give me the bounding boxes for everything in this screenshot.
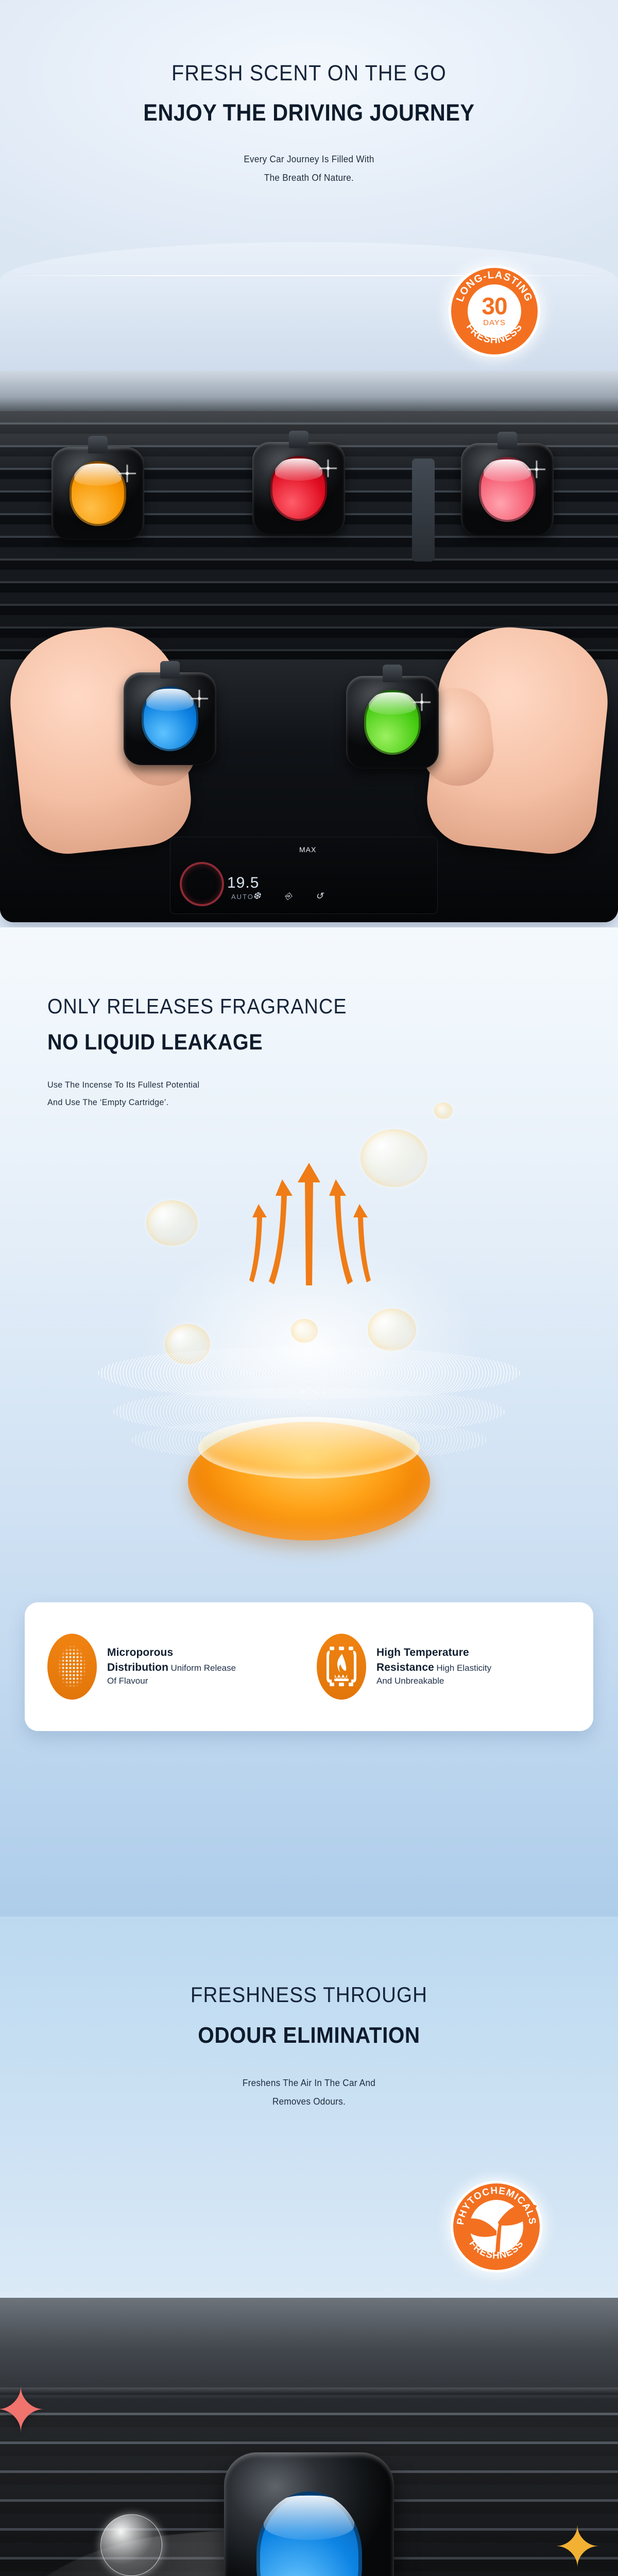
hvac-max-label: MAX	[299, 845, 316, 854]
hvac-temperature: 19.5	[227, 874, 259, 892]
hvac-display: MAX 19.5 AUTO ❆ ⎆ ↺	[170, 837, 438, 914]
hero-subtitle-line1: Every Car Journey Is Filled With	[15, 150, 603, 168]
sparkle-icon	[413, 693, 431, 711]
green-capsule-unit	[346, 676, 439, 769]
section-no-liquid-leakage: ONLY RELEASES FRAGRANCE NO LIQUID LEAKAG…	[0, 927, 618, 1917]
phytochemicals-freshness-badge: PHYTOCHEMICALS FRESHNESS	[453, 2183, 540, 2270]
leakage-subtitle-line2: And Use The ‘Empty Cartridge’.	[47, 1094, 590, 1112]
seat-icon: ⎆	[284, 891, 291, 902]
hero-heading-bold: ENJOY THE DRIVING JOURNEY	[25, 99, 593, 126]
feature-desc-line2: Of Flavour	[107, 1676, 148, 1686]
feature-desc-line1: Uniform Release	[170, 1663, 236, 1673]
bubble-decor	[360, 1129, 427, 1187]
capsule-lens	[142, 686, 198, 751]
odour-heading-light: FRESHNESS THROUGH	[25, 1982, 593, 2007]
recirculate-icon: ↺	[316, 891, 323, 902]
cabin-product-photo: ✦ ✦ ✦ ⒶOFF ⚠OFF △ P◀ ≋ ↧	[0, 2298, 618, 2576]
flame-heat-icon	[317, 1634, 366, 1700]
capsule-lens	[270, 456, 327, 521]
sparkle-icon	[319, 460, 337, 477]
odour-heading-bold: ODOUR ELIMINATION	[25, 2023, 593, 2049]
feature-text: High Temperature Resistance High Elastic…	[376, 1646, 491, 1687]
vent-clip-icon	[160, 661, 180, 679]
blue-capsule-unit	[124, 672, 216, 765]
capsule-lens	[364, 690, 421, 755]
shell-bubble-decor	[100, 2514, 162, 2576]
capsule-lens	[479, 457, 536, 522]
fragrance-rising-arrows	[227, 1162, 391, 1296]
vent-clip-icon	[88, 436, 108, 453]
dot-matrix-icon	[47, 1634, 97, 1700]
starfish-yellow-icon: ✦	[554, 2514, 601, 2576]
leakage-subtitle-line1: Use The Incense To Its Fullest Potential	[47, 1076, 590, 1094]
red-capsule-unit	[252, 442, 345, 535]
dash-leather-top	[0, 2298, 618, 2406]
sparkle-icon	[191, 690, 208, 707]
bubble-decor	[291, 1319, 318, 1343]
odour-subtitle-line1: Freshens The Air In The Car And	[15, 2074, 603, 2092]
vent-clip-icon	[497, 432, 517, 449]
pink-capsule-unit	[461, 443, 554, 536]
badge-unit: DAYS	[483, 318, 506, 327]
feature-title-line2: Distribution	[107, 1662, 168, 1673]
feature-desc-line1: High Elasticity	[436, 1663, 491, 1673]
capsule-lens	[256, 2492, 362, 2576]
product-landing-page: FRESH SCENT ON THE GO ENJOY THE DRIVING …	[0, 0, 618, 2576]
flame-heat-glyph	[327, 1645, 356, 1689]
hero-product-photo: MAX 19.5 AUTO ❆ ⎆ ↺	[0, 371, 618, 922]
starfish-red-icon: ✦	[0, 2375, 47, 2447]
section-hero: FRESH SCENT ON THE GO ENJOY THE DRIVING …	[0, 0, 618, 927]
feature-title-line1: Microporous	[107, 1647, 173, 1658]
badge-inner-disc: 30 DAYS	[468, 284, 521, 338]
bubble-decor	[146, 1200, 198, 1246]
bubble-decor	[368, 1309, 416, 1351]
hvac-icon-row: ❆ ⎆ ↺	[253, 891, 323, 902]
orange-capsule-unit	[51, 447, 144, 540]
feature-text: Microporous Distribution Uniform Release…	[107, 1646, 236, 1687]
hvac-mode: AUTO	[231, 893, 254, 901]
odour-subtitle-line2: Removes Odours.	[15, 2092, 603, 2111]
feature-title-line2: Resistance	[376, 1662, 434, 1673]
dot-matrix-glyph	[58, 1645, 87, 1689]
fan-icon: ❆	[253, 891, 261, 902]
feature-desc-line2: And Unbreakable	[376, 1676, 444, 1686]
oil-pod-membrane	[198, 1417, 420, 1479]
long-lasting-30-days-badge: 30 DAYS LONG-LASTING FRESHNESS	[451, 268, 538, 354]
hero-heading-light: FRESH SCENT ON THE GO	[25, 61, 593, 86]
bubble-decor	[434, 1103, 453, 1119]
sprout-plant-icon	[453, 2183, 540, 2270]
hero-subtitle-line2: The Breath Of Nature.	[15, 168, 603, 187]
feature-card: Microporous Distribution Uniform Release…	[25, 1602, 593, 1731]
vent-clip-icon	[383, 665, 402, 682]
leakage-heading-light: ONLY RELEASES FRAGRANCE	[47, 994, 572, 1019]
leakage-heading-bold: NO LIQUID LEAKAGE	[47, 1030, 572, 1055]
feature-high-temperature: High Temperature Resistance High Elastic…	[317, 1634, 571, 1700]
leakage-text-block: ONLY RELEASES FRAGRANCE NO LIQUID LEAKAG…	[0, 927, 618, 1112]
badge-inner-disc	[470, 2200, 523, 2253]
feature-microporous: Microporous Distribution Uniform Release…	[47, 1634, 301, 1700]
blue-capsule-unit-large	[224, 2452, 394, 2576]
hero-text-block: FRESH SCENT ON THE GO ENJOY THE DRIVING …	[0, 0, 618, 187]
capsule-lens	[70, 461, 126, 526]
badge-number: 30	[482, 295, 507, 318]
vent-divider	[412, 459, 435, 562]
temperature-dial	[180, 862, 224, 906]
vent-clip-icon	[289, 431, 308, 448]
feature-title-line1: High Temperature	[376, 1647, 469, 1658]
odour-text-block: FRESHNESS THROUGH ODOUR ELIMINATION Fres…	[0, 1917, 618, 2111]
section-odour-elimination: FRESHNESS THROUGH ODOUR ELIMINATION Fres…	[0, 1917, 618, 2576]
sparkle-icon	[118, 465, 136, 482]
sparkle-icon	[528, 461, 545, 478]
